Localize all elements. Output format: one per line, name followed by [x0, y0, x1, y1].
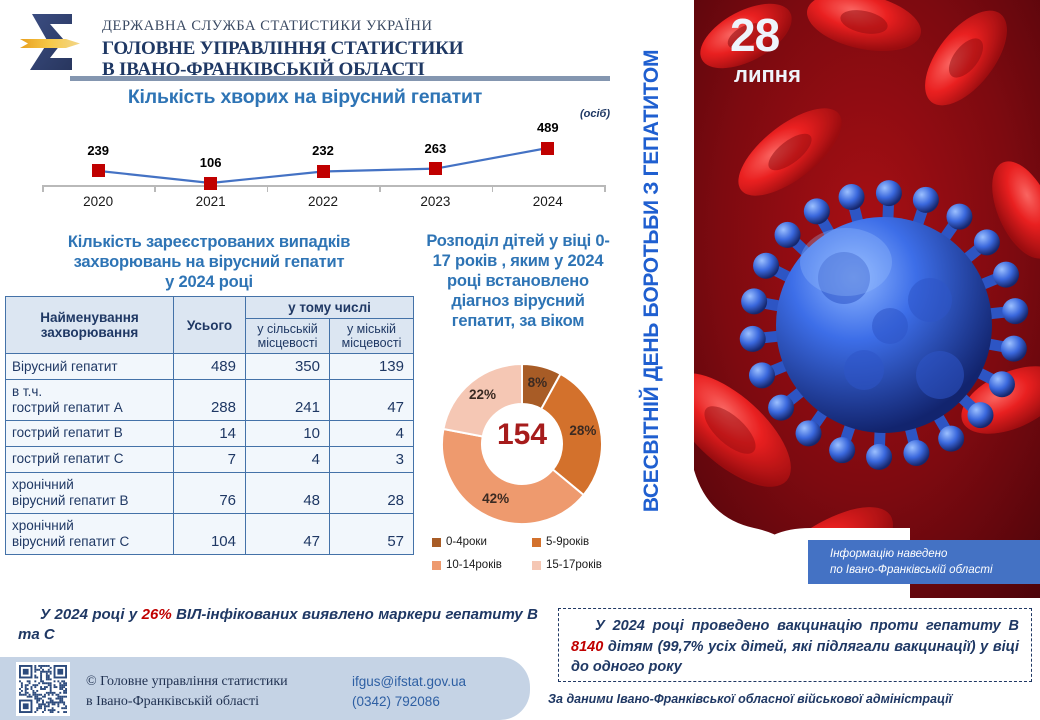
- org-subtitle: ДЕРЖАВНА СЛУЖБА СТАТИСТИКИ УКРАЇНИ: [102, 18, 433, 35]
- table-cell-rural: 241: [246, 380, 330, 421]
- table-cell-urban: 4: [330, 420, 414, 446]
- data-label-2024: 489: [518, 120, 578, 135]
- event-day: 28: [730, 8, 860, 62]
- table-cell-total: 288: [174, 380, 246, 421]
- legend-item-0-4роки[interactable]: 0-4роки: [432, 536, 532, 548]
- table-cell-text-line: гострий гепатит А: [12, 400, 167, 416]
- table-header-disease-name: Найменування захворювання: [6, 297, 174, 354]
- table-header-urban: у міській місцевості: [330, 319, 414, 354]
- legend-item-15-17років[interactable]: 15-17років: [532, 559, 632, 571]
- data-label-2022: 232: [293, 143, 353, 158]
- table-cell-text-line: гострий гепатит С: [12, 451, 167, 467]
- table-cell-text-line: хронічний: [12, 477, 167, 493]
- footer-contact: ifgus@ifstat.gov.ua (0342) 792086: [352, 672, 466, 711]
- table-cell-total: 7: [174, 446, 246, 472]
- info-scope-box: Інформацію наведено по Івано-Франківські…: [808, 540, 1040, 584]
- data-point-2023: [429, 162, 442, 175]
- info-scope-text: Інформацію наведено по Івано-Франківські…: [830, 546, 993, 579]
- world-hepatitis-day-title-text: ВСЕСВІТНІЙ ДЕНЬ БОРОТЬБИ З ГЕПАТИТОМ: [640, 14, 664, 548]
- table-cell-rural: 4: [246, 446, 330, 472]
- legend-item-10-14років[interactable]: 10-14років: [432, 559, 532, 571]
- qr-code-image: [19, 665, 67, 713]
- line-chart-title: Кількість хворих на вірусний гепатит: [0, 86, 610, 109]
- table-cell-rural: 350: [246, 354, 330, 380]
- vaccination-note-post: дітям (99,7% усіх дітей, які підлягали в…: [571, 639, 1019, 676]
- header-divider: [70, 76, 610, 81]
- table-cell-total: 104: [174, 513, 246, 554]
- table-title: Кількість зареєстрованих випадків захвор…: [4, 232, 414, 292]
- qr-code[interactable]: [16, 662, 70, 716]
- footer-phone: (0342) 792086: [352, 692, 466, 712]
- hiv-note-highlight: 26%: [142, 606, 172, 623]
- info-scope-line-1: Інформацію наведено: [830, 546, 993, 562]
- x-axis-label-2021: 2021: [176, 194, 246, 209]
- vaccination-note-highlight: 8140: [571, 639, 603, 655]
- header-branding: ДЕРЖАВНА СЛУЖБА СТАТИСТИКИ УКРАЇНИ ГОЛОВ…: [14, 6, 614, 82]
- table-cell-total: 76: [174, 472, 246, 513]
- legend-label: 15-17років: [546, 559, 602, 571]
- data-label-2020: 239: [68, 143, 128, 158]
- table-cell-disease-name: гострий гепатит В: [6, 420, 174, 446]
- table-body: Вірусний гепатит489350139в т.ч.гострий г…: [6, 354, 414, 555]
- data-point-2020: [92, 164, 105, 177]
- x-axis-label-2020: 2020: [63, 194, 133, 209]
- donut-slice-label-10-14років: 42%: [481, 491, 511, 506]
- table-row: в т.ч.гострий гепатит А28824147: [6, 380, 414, 421]
- table-cell-disease-name: хронічнийвірусний гепатит С: [6, 513, 174, 554]
- table-cell-urban: 47: [330, 380, 414, 421]
- footer-organisation: © Головне управління статистики в Івано-…: [86, 672, 288, 711]
- org-title: ГОЛОВНЕ УПРАВЛІННЯ СТАТИСТИКИ В ІВАНО-ФР…: [102, 39, 463, 80]
- table-row: Вірусний гепатит489350139: [6, 354, 414, 380]
- event-month: липня: [734, 62, 801, 88]
- table-cell-text-line: вірусний гепатит С: [12, 534, 167, 550]
- donut-slice-label-15-17років: 22%: [467, 387, 497, 402]
- table-cell-urban: 3: [330, 446, 414, 472]
- x-axis-tick: [492, 185, 494, 192]
- legend-label: 0-4роки: [446, 536, 487, 548]
- table-cell-total: 14: [174, 420, 246, 446]
- legend-label: 5-9років: [546, 536, 589, 548]
- x-axis-tick: [42, 185, 44, 192]
- world-hepatitis-day-title: ВСЕСВІТНІЙ ДЕНЬ БОРОТЬБИ З ГЕПАТИТОМ: [614, 14, 690, 548]
- table-cell-urban: 139: [330, 354, 414, 380]
- info-scope-line-2: по Івано-Франківській області: [830, 562, 993, 578]
- footer-email[interactable]: ifgus@ifstat.gov.ua: [352, 672, 466, 692]
- data-point-2024: [541, 142, 554, 155]
- table-title-line-2: захворювань на вірусний гепатит: [4, 252, 414, 272]
- table-row: гострий гепатит В14104: [6, 420, 414, 446]
- data-label-2023: 263: [405, 141, 465, 156]
- table-cell-disease-name: Вірусний гепатит: [6, 354, 174, 380]
- legend-label: 10-14років: [446, 559, 502, 571]
- table-cell-text-line: Вірусний гепатит: [12, 359, 167, 375]
- table-cell-urban: 28: [330, 472, 414, 513]
- table-cell-text-line: вірусний гепатит В: [12, 493, 167, 509]
- x-axis-label-2022: 2022: [288, 194, 358, 209]
- donut-chart: 154 8%28%42%22%: [424, 358, 620, 530]
- donut-chart-title: Розподіл дітей у віці 0-17 років , яким …: [418, 232, 618, 332]
- table-title-line-3: у 2024 році: [4, 272, 414, 292]
- x-axis-label-2023: 2023: [400, 194, 470, 209]
- x-axis-tick: [604, 185, 606, 192]
- table-cell-disease-name: хронічнийвірусний гепатит В: [6, 472, 174, 513]
- table-header-row-1: Найменування захворювання Усього у тому …: [6, 297, 414, 319]
- data-source-note: За даними Івано-Франківської обласної ві…: [548, 692, 1038, 706]
- table-cell-disease-name: в т.ч.гострий гепатит А: [6, 380, 174, 421]
- table-header-group: у тому числі: [246, 297, 414, 319]
- table-cell-text-line: в т.ч.: [12, 384, 167, 400]
- infographic-root: ДЕРЖАВНА СЛУЖБА СТАТИСТИКИ УКРАЇНИ ГОЛОВ…: [0, 0, 1040, 720]
- legend-swatch-icon: [532, 561, 541, 570]
- footer-org-line-1: © Головне управління статистики: [86, 672, 288, 692]
- legend-row: 10-14років15-17років: [432, 559, 632, 571]
- x-axis-label-2024: 2024: [513, 194, 583, 209]
- legend-row: 0-4роки5-9років: [432, 536, 632, 548]
- table-header-rural: у сільській місцевості: [246, 319, 330, 354]
- data-label-2021: 106: [181, 155, 241, 170]
- donut-slice-label-5-9років: 28%: [568, 423, 598, 438]
- data-point-2021: [204, 177, 217, 190]
- footer-org-line-2: в Івано-Франківській області: [86, 692, 288, 712]
- table-cell-urban: 57: [330, 513, 414, 554]
- x-axis-tick: [379, 185, 381, 192]
- x-axis-tick: [154, 185, 156, 192]
- table-row: хронічнийвірусний гепатит В764828: [6, 472, 414, 513]
- disease-cases-table: Найменування захворювання Усього у тому …: [5, 296, 414, 555]
- x-axis-tick: [267, 185, 269, 192]
- table-header-total: Усього: [174, 297, 246, 354]
- legend-swatch-icon: [432, 538, 441, 547]
- statistics-service-logo-icon: [14, 8, 86, 78]
- legend-swatch-icon: [532, 538, 541, 547]
- hiv-note-pre: У 2024 році у: [40, 606, 142, 623]
- table-cell-rural: 10: [246, 420, 330, 446]
- vaccination-note: У 2024 році проведено вакцинацію проти г…: [558, 608, 1032, 682]
- table-row: хронічнийвірусний гепатит С1044757: [6, 513, 414, 554]
- legend-swatch-icon: [432, 561, 441, 570]
- data-point-2022: [317, 165, 330, 178]
- vaccination-note-pre: У 2024 році проведено вакцинацію проти г…: [595, 618, 1019, 634]
- line-chart-x-axis: [42, 185, 604, 187]
- table-cell-text-line: хронічний: [12, 518, 167, 534]
- table-cell-rural: 48: [246, 472, 330, 513]
- org-title-line-1: ГОЛОВНЕ УПРАВЛІННЯ СТАТИСТИКИ: [102, 39, 463, 60]
- donut-slice-label-0-4роки: 8%: [522, 375, 552, 390]
- table-row: гострий гепатит С743: [6, 446, 414, 472]
- table-cell-text-line: гострий гепатит В: [12, 425, 167, 441]
- table-cell-rural: 47: [246, 513, 330, 554]
- donut-chart-legend: 0-4роки5-9років10-14років15-17років: [432, 536, 632, 582]
- table-cell-disease-name: гострий гепатит С: [6, 446, 174, 472]
- table-cell-total: 489: [174, 354, 246, 380]
- hiv-marker-note: У 2024 році у 26% ВІЛ-інфікованих виявле…: [18, 605, 538, 646]
- table-title-line-1: Кількість зареєстрованих випадків: [4, 232, 414, 252]
